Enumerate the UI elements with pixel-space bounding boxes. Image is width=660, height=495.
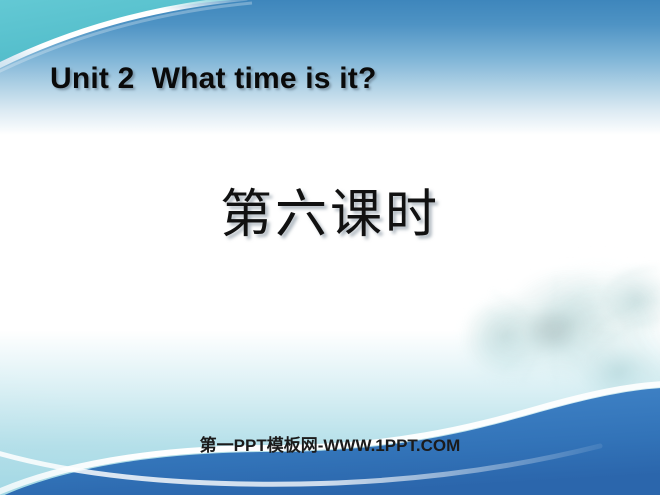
watermark-text: 第一PPT模板网-WWW.1PPT.COM (0, 431, 660, 456)
unit-title: Unit 2 What time is it? (50, 62, 376, 96)
bottom-cyan-wash (0, 330, 660, 495)
lesson-title: 第六课时 (0, 172, 660, 247)
presentation-slide: Unit 2 What time is it? 第六课时 第一PPT模板网-WW… (0, 0, 660, 495)
